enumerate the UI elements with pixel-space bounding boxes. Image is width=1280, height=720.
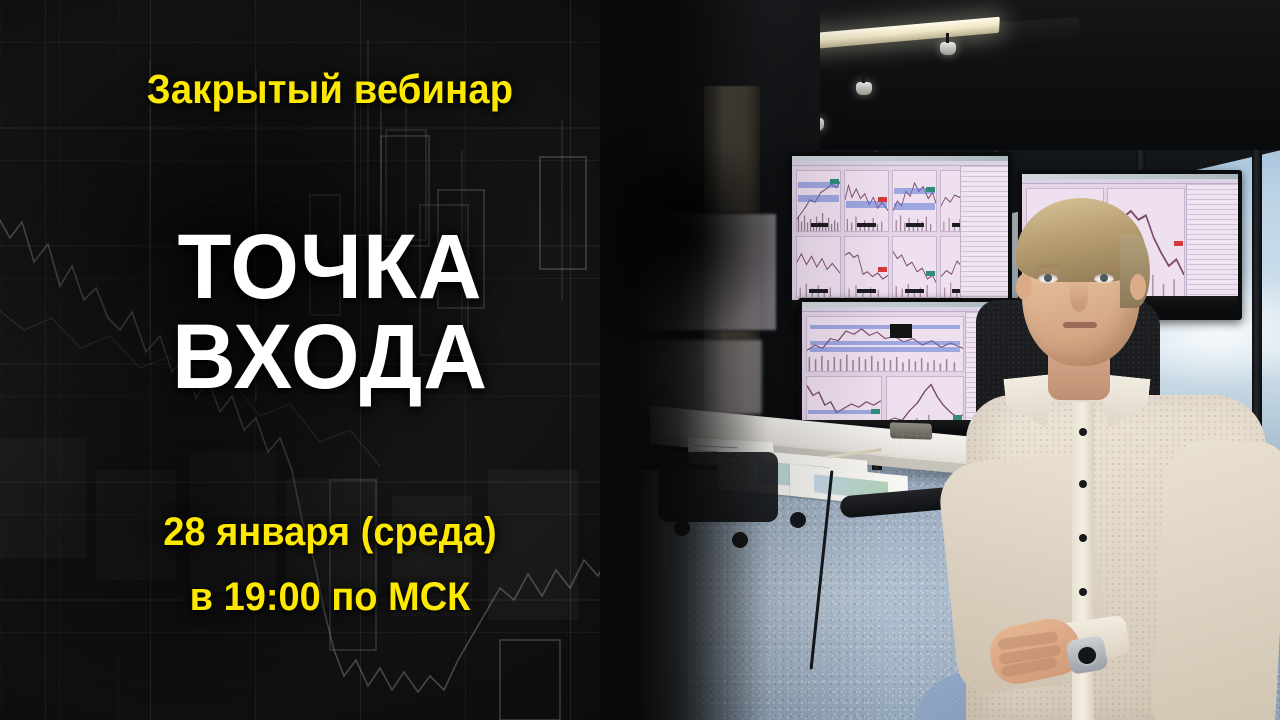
text-layer: Закрытый вебинар ТОЧКА ВХОДА 28 января (… xyxy=(0,0,1280,720)
page-title: ТОЧКА ВХОДА xyxy=(13,222,647,402)
event-time: в 19:00 по МСК xyxy=(17,565,644,630)
kicker-label: Закрытый вебинар xyxy=(23,66,637,113)
title-line-2: ВХОДА xyxy=(13,312,647,402)
title-line-1: ТОЧКА xyxy=(13,222,647,312)
event-date: 28 января (среда) xyxy=(17,500,644,565)
promo-banner: Закрытый вебинар ТОЧКА ВХОДА 28 января (… xyxy=(0,0,1280,720)
schedule-block: 28 января (среда) в 19:00 по МСК xyxy=(17,500,644,630)
